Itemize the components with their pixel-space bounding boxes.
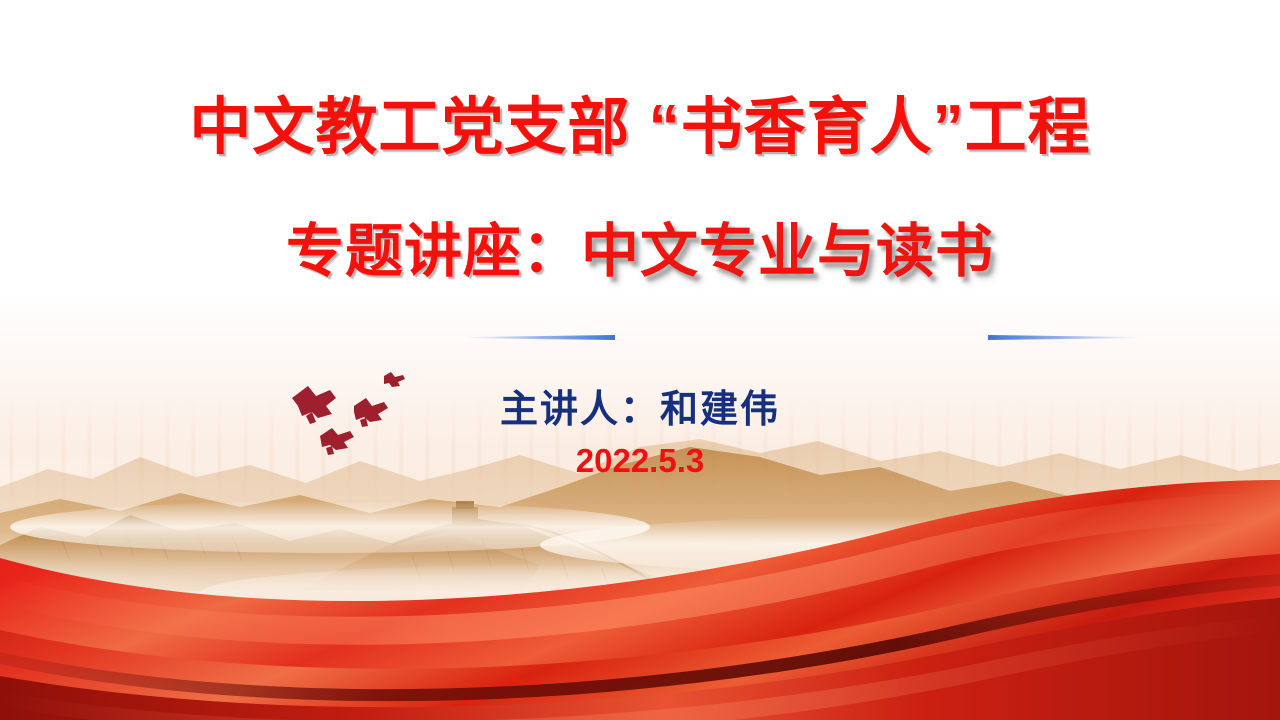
- red-silk-ribbon-decoration: [0, 480, 1280, 720]
- presentation-slide: 中文教工党支部 “书香育人”工程 专题讲座：中文专业与读书 主讲人：和建伟 20…: [0, 0, 1280, 720]
- speaker-name: 主讲人：和建伟: [0, 378, 1280, 433]
- slide-subtitle-emphasis: 中文专业与读书: [581, 219, 994, 284]
- slide-title-secondary: 专题讲座：中文专业与读书: [0, 204, 1280, 288]
- slide-subtitle-prefix: 专题讲座：: [286, 219, 581, 284]
- slide-title-primary: 中文教工党支部 “书香育人”工程: [0, 76, 1280, 166]
- presentation-date: 2022.5.3: [0, 442, 1280, 480]
